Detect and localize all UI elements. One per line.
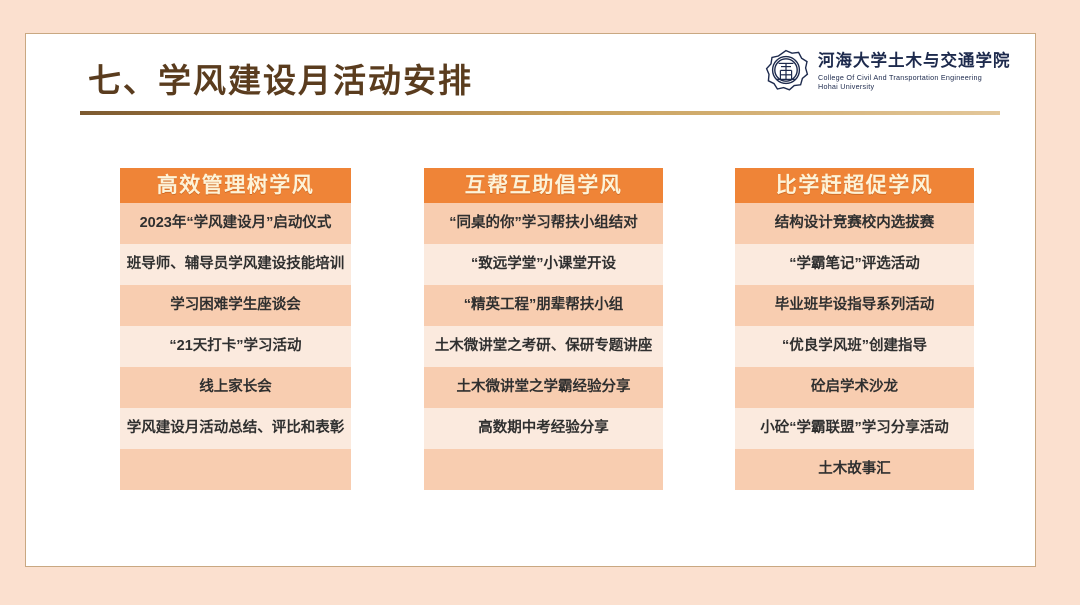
activity-item: 土木故事汇 [735, 449, 974, 490]
activity-item: 班导师、辅导员学风建设技能培训 [120, 244, 351, 285]
activity-column-1: 高效管理树学风 2023年“学风建设月”启动仪式 班导师、辅导员学风建设技能培训… [120, 168, 351, 490]
activity-item: 线上家长会 [120, 367, 351, 408]
activity-column-3: 比学赶超促学风 结构设计竞赛校内选拔赛 “学霸笔记”评选活动 毕业班毕设指导系列… [735, 168, 974, 490]
activity-item: 土木微讲堂之考研、保研专题讲座 [424, 326, 663, 367]
activity-item: “学霸笔记”评选活动 [735, 244, 974, 285]
activity-item: 毕业班毕设指导系列活动 [735, 285, 974, 326]
university-name-en-line1: College Of Civil And Transportation Engi… [818, 74, 1011, 82]
university-logo: 河海大学土木与交通学院 College Of Civil And Transpo… [762, 48, 1011, 96]
activity-item: “21天打卡”学习活动 [120, 326, 351, 367]
university-name-en-line2: Hohai University [818, 83, 1011, 91]
activity-item: “致远学堂”小课堂开设 [424, 244, 663, 285]
column-header-3: 比学赶超促学风 [735, 168, 974, 203]
page-title: 七、学风建设月活动安排 [88, 54, 473, 102]
activity-item: “精英工程”朋辈帮扶小组 [424, 285, 663, 326]
activity-item-empty [120, 449, 351, 490]
activity-item: 土木微讲堂之学霸经验分享 [424, 367, 663, 408]
title-underline-rule [80, 111, 1000, 115]
university-name-cn: 河海大学土木与交通学院 [818, 53, 1011, 70]
activity-item: 结构设计竞赛校内选拔赛 [735, 203, 974, 244]
activity-item-empty [424, 449, 663, 490]
activity-column-2: 互帮互助倡学风 “同桌的你”学习帮扶小组结对 “致远学堂”小课堂开设 “精英工程… [424, 168, 663, 490]
activity-item: “同桌的你”学习帮扶小组结对 [424, 203, 663, 244]
activity-item: 学风建设月活动总结、评比和表彰 [120, 408, 351, 449]
activity-item: 学习困难学生座谈会 [120, 285, 351, 326]
activity-item: “优良学风班”创建指导 [735, 326, 974, 367]
activity-item: 2023年“学风建设月”启动仪式 [120, 203, 351, 244]
university-logo-text: 河海大学土木与交通学院 College Of Civil And Transpo… [818, 53, 1011, 90]
hohai-university-seal-icon [762, 48, 810, 96]
column-header-1: 高效管理树学风 [120, 168, 351, 203]
activity-item: 砼启学术沙龙 [735, 367, 974, 408]
activity-item: 高数期中考经验分享 [424, 408, 663, 449]
activity-item: 小砼“学霸联盟”学习分享活动 [735, 408, 974, 449]
column-header-2: 互帮互助倡学风 [424, 168, 663, 203]
